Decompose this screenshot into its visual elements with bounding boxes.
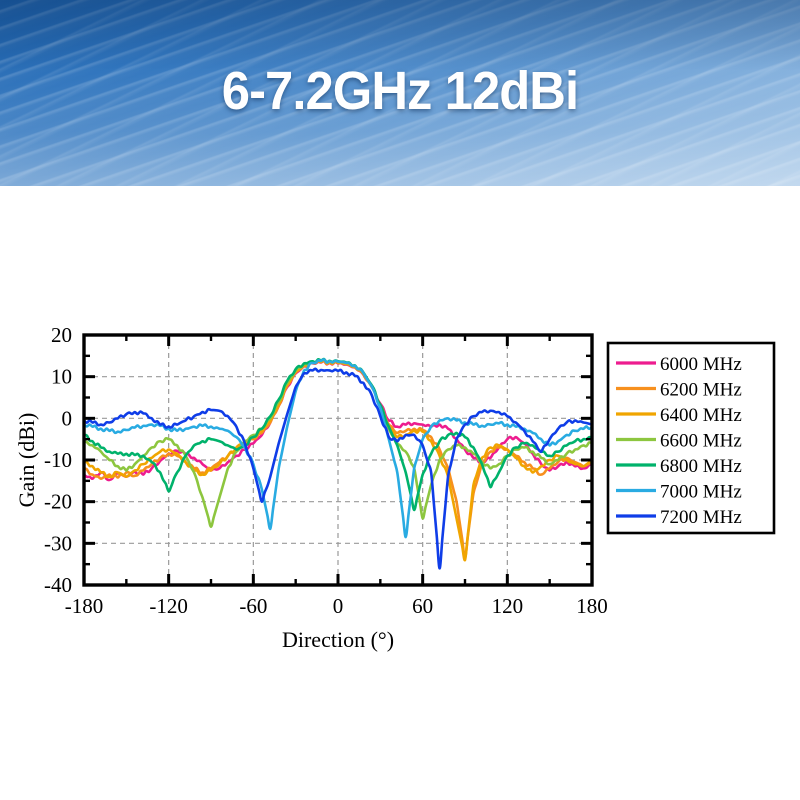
x-tick-label: 180 [576,594,608,618]
legend-label: 6800 MHz [660,456,742,477]
x-tick-label: -60 [239,594,267,618]
y-tick-label: -30 [44,531,72,555]
x-axis-title: Direction (°) [282,627,394,652]
legend-label: 6400 MHz [660,405,742,426]
x-tick-label: -180 [65,594,104,618]
gain-vs-direction-chart: -180-120-60060120180 -40-30-20-1001020 D… [0,186,800,800]
y-tick-label: 20 [51,323,72,347]
x-tick-label: 120 [492,594,524,618]
x-tick-label: 60 [412,594,433,618]
x-tick-labels: -180-120-60060120180 [65,594,608,618]
chart-legend: 6000 MHz6200 MHz6400 MHz6600 MHz6800 MHz… [608,343,774,533]
y-tick-label: -10 [44,448,72,472]
y-tick-label: 0 [62,406,73,430]
legend-label: 6200 MHz [660,380,742,401]
y-tick-label: -40 [44,573,72,597]
legend-label: 7200 MHz [660,507,742,528]
radiation-pattern-figure: -180-120-60060120180 -40-30-20-1001020 D… [0,186,800,800]
legend-label: 6000 MHz [660,354,742,375]
header-banner: 6-7.2GHz 12dBi [0,0,800,186]
page-title: 6-7.2GHz 12dBi [24,60,776,122]
legend-label: 6600 MHz [660,431,742,452]
y-tick-labels: -40-30-20-1001020 [44,323,72,597]
y-tick-label: 10 [51,365,72,389]
x-tick-label: -120 [149,594,188,618]
y-tick-label: -20 [44,490,72,514]
legend-label: 7000 MHz [660,482,742,503]
y-axis-title: Gain (dBi) [14,413,39,508]
x-tick-label: 0 [333,594,344,618]
